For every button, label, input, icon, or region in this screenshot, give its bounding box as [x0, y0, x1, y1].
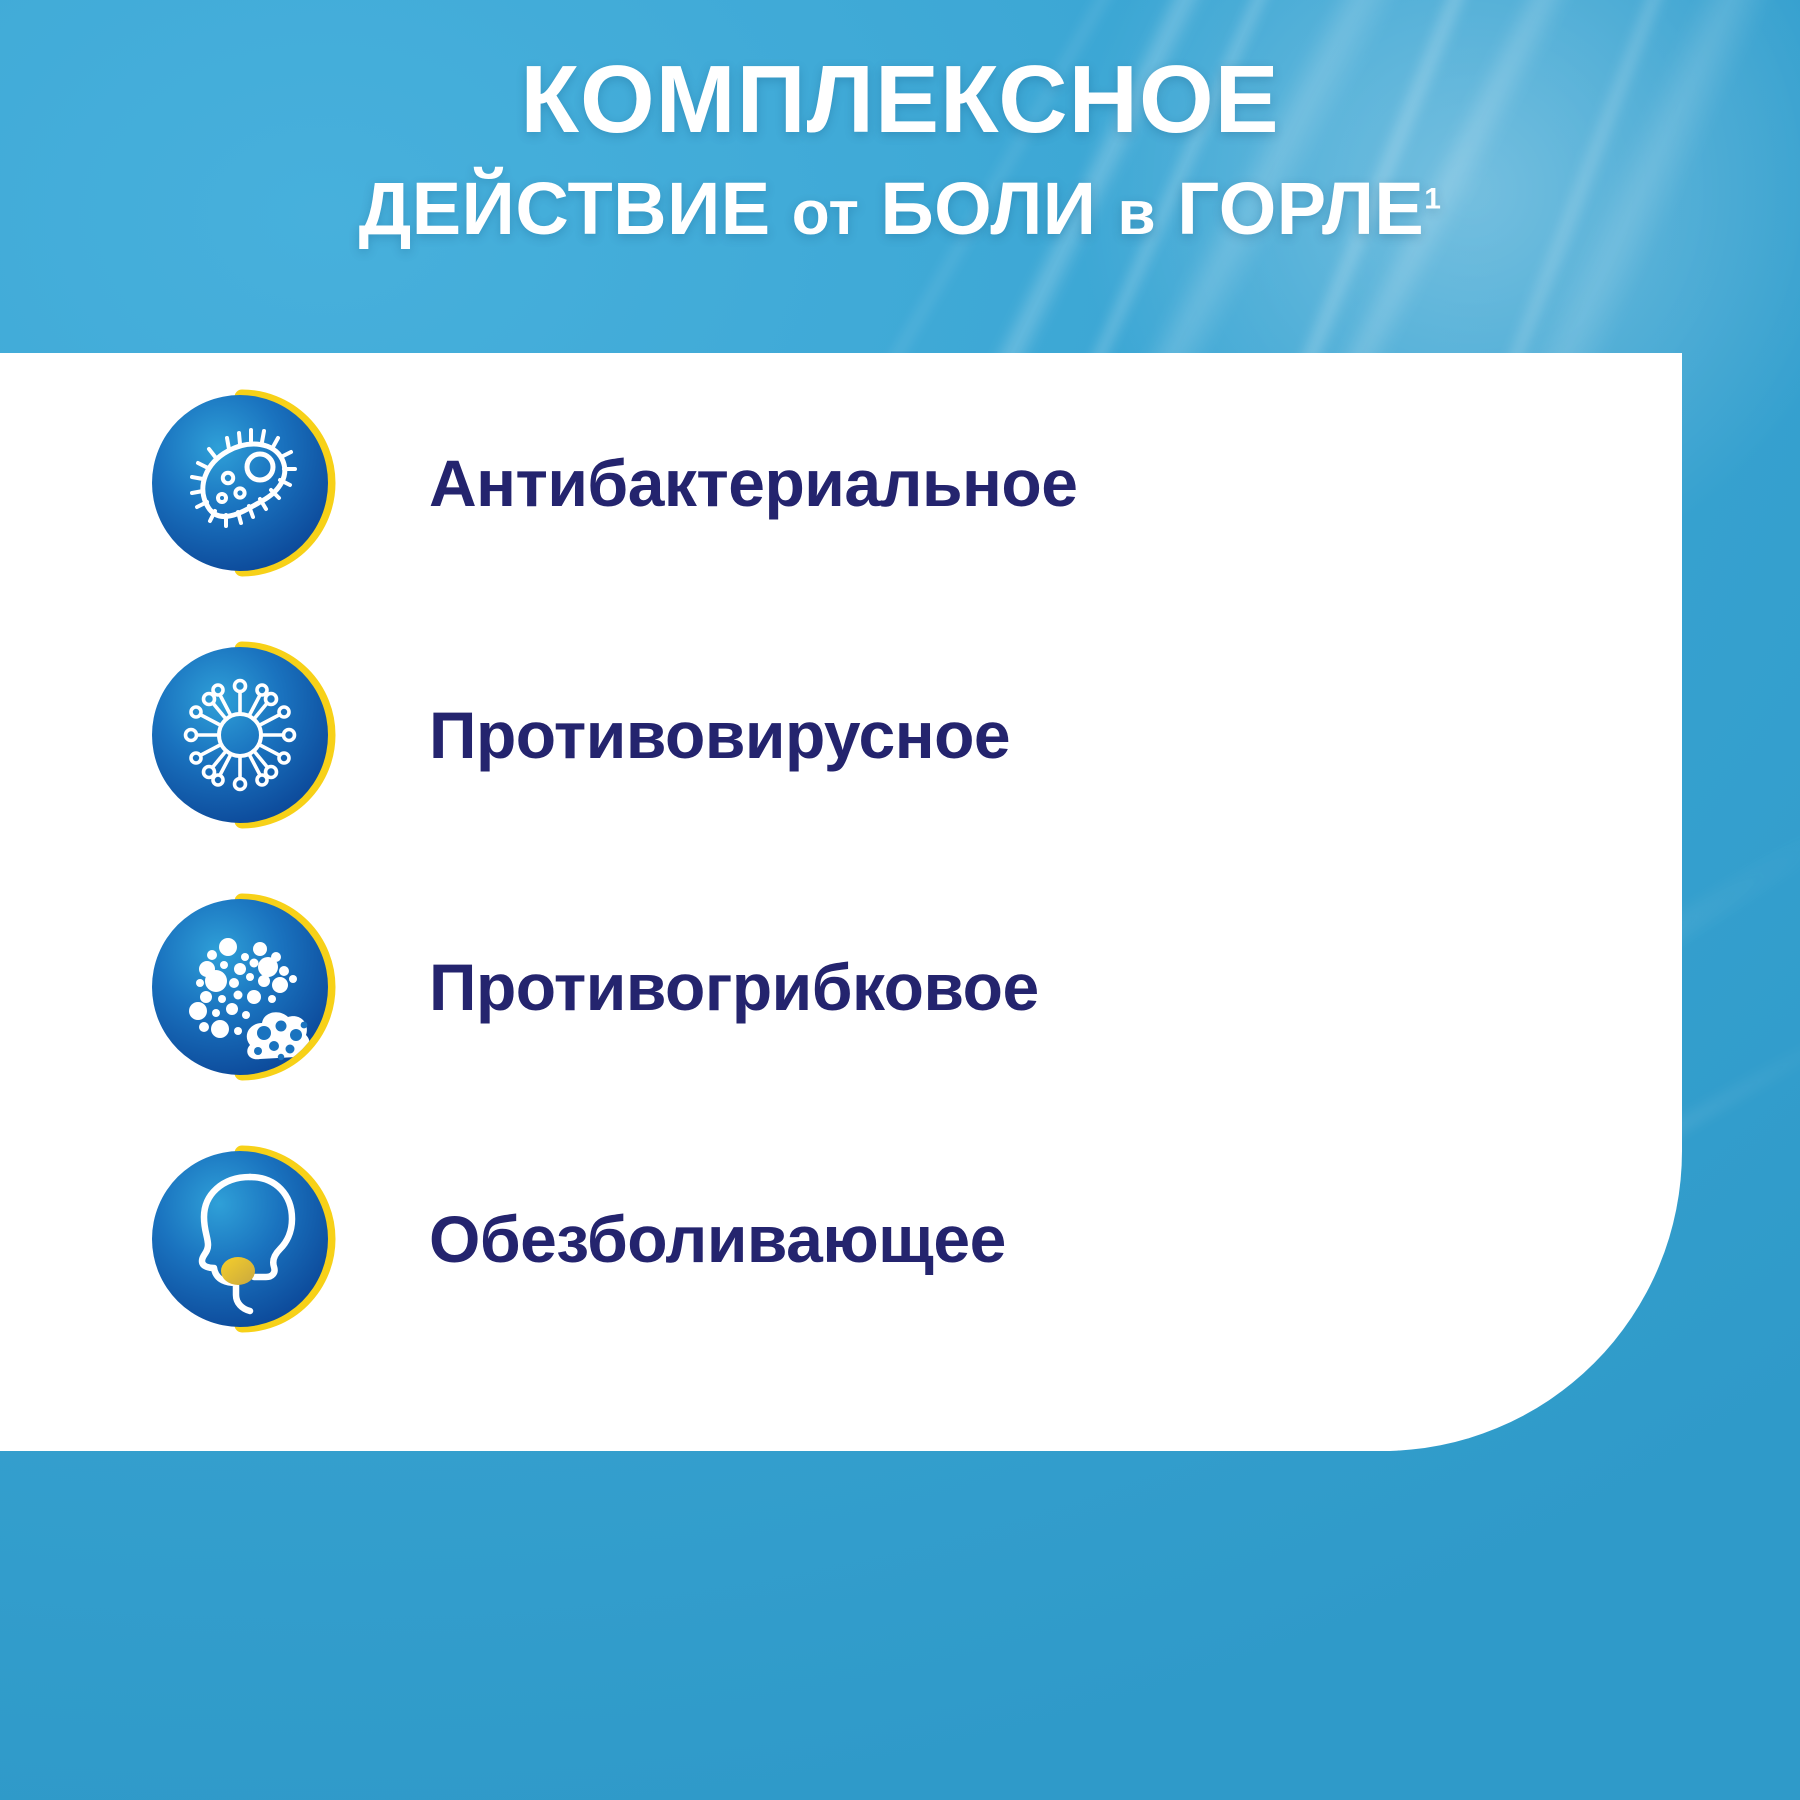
benefit-label: Антибактериальное [429, 450, 1077, 516]
headline-primary: КОМПЛЕКСНОЕ [0, 52, 1800, 148]
benefits-list: Антибактериальное [0, 353, 1682, 1451]
benefit-badge [150, 633, 355, 838]
benefit-label: Противогрибковое [429, 954, 1039, 1020]
benefit-label: Обезболивающее [429, 1206, 1006, 1272]
benefit-badge [150, 381, 355, 586]
benefit-row-analgesic: Обезболивающее [150, 1139, 1650, 1339]
headline-word-deystvie: ДЕЙСТВИЕ [359, 167, 792, 250]
benefit-row-antifungal: Противогрибковое [150, 887, 1650, 1087]
headline-word-gorle: ГОРЛЕ [1156, 167, 1424, 250]
headline-word-v: в [1118, 179, 1157, 248]
badge-circle [152, 395, 328, 571]
benefit-row-antiviral: Противовирусное [150, 635, 1650, 835]
benefit-row-antibacterial: Антибактериальное [150, 383, 1650, 583]
headline-word-boli: БОЛИ [859, 167, 1117, 250]
footnote-marker: 1 [1424, 182, 1441, 215]
badge-circle [152, 647, 328, 823]
benefit-badge [150, 885, 355, 1090]
promo-banner: КОМПЛЕКСНОЕ ДЕЙСТВИЕ от БОЛИ в ГОРЛЕ1 [0, 0, 1800, 1800]
benefit-badge [150, 1137, 355, 1342]
benefit-label: Противовирусное [429, 702, 1010, 768]
headline-word-ot: от [792, 179, 860, 248]
headline-secondary: ДЕЙСТВИЕ от БОЛИ в ГОРЛЕ1 [0, 172, 1800, 246]
banner-header: КОМПЛЕКСНОЕ ДЕЙСТВИЕ от БОЛИ в ГОРЛЕ1 [0, 0, 1800, 353]
